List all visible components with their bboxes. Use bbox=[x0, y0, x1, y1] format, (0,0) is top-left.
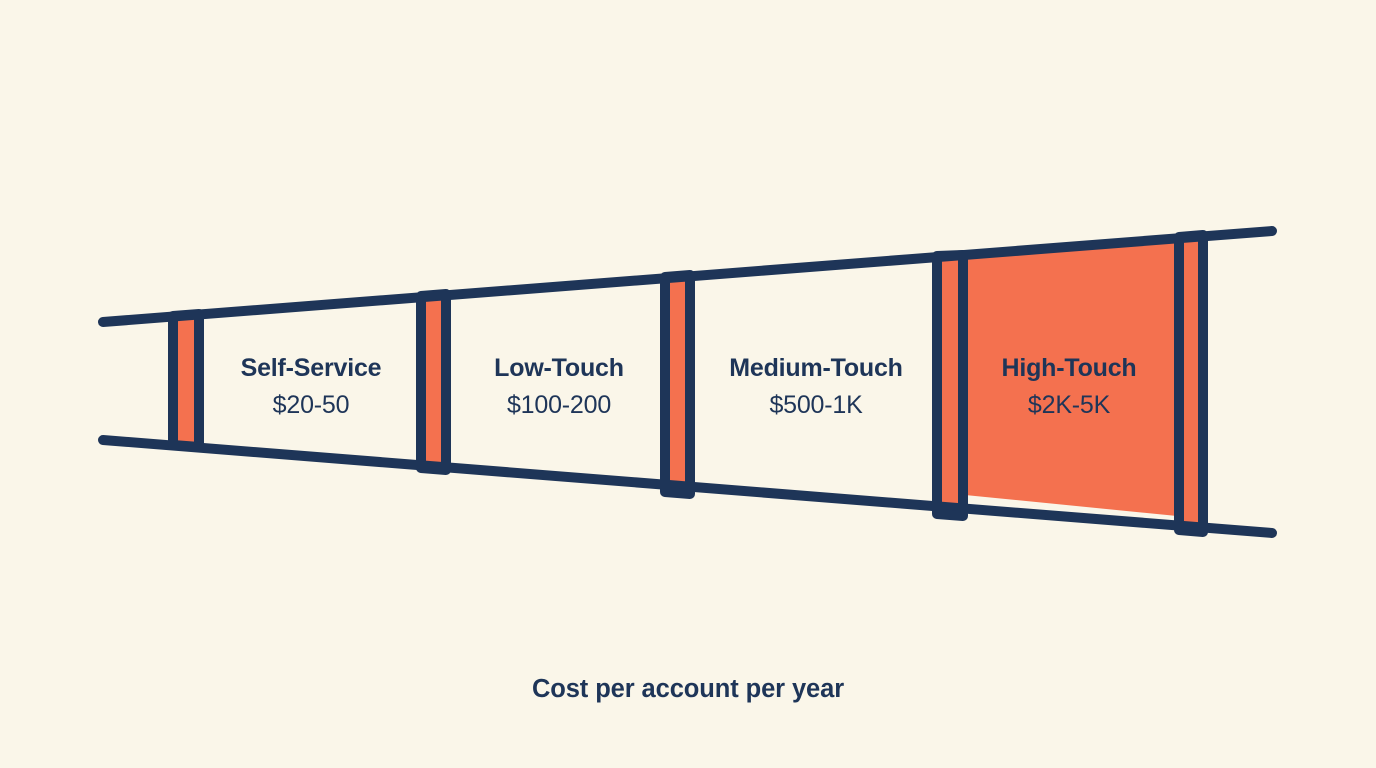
segment-value-self-service: $20-50 bbox=[273, 391, 350, 419]
divider-fill-0 bbox=[178, 319, 194, 442]
funnel-diagram-canvas: Self-Service $20-50 Low-Touch $100-200 M… bbox=[0, 0, 1376, 768]
chart-caption: Cost per account per year bbox=[532, 675, 844, 703]
divider-fill-3 bbox=[942, 260, 958, 511]
segment-value-high-touch: $2K-5K bbox=[1028, 391, 1111, 419]
segment-label-low-touch: Low-Touch bbox=[494, 354, 624, 382]
segment-label-self-service: Self-Service bbox=[241, 354, 382, 382]
divider-fill-1 bbox=[426, 300, 441, 466]
segment-value-low-touch: $100-200 bbox=[507, 391, 611, 419]
divider-fill-2 bbox=[670, 281, 685, 490]
segment-label-medium-touch: Medium-Touch bbox=[729, 354, 903, 382]
segment-value-medium-touch: $500-1K bbox=[769, 391, 863, 419]
funnel-chart: Self-Service $20-50 Low-Touch $100-200 M… bbox=[0, 0, 1376, 768]
segment-label-high-touch: High-Touch bbox=[1002, 354, 1137, 382]
divider-fill-4 bbox=[1184, 241, 1198, 527]
